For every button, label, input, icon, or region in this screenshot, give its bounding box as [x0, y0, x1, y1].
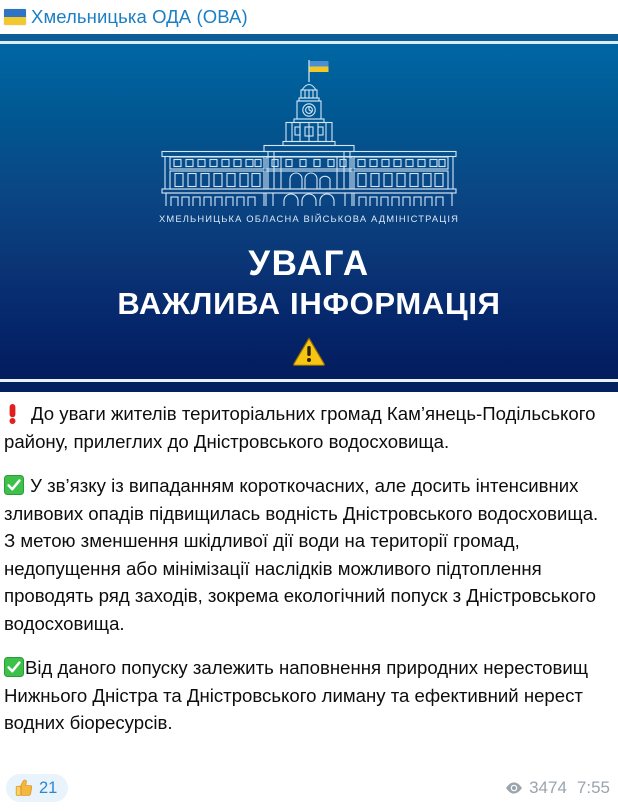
telegram-post: Хмельницька ОДА (ОВА): [0, 0, 618, 811]
message-paragraph-1: До уваги жителів територіальних громад К…: [4, 400, 612, 455]
views-count: 3474: [529, 778, 567, 798]
message-paragraph-1-text: До уваги жителів територіальних громад К…: [4, 403, 595, 452]
message-paragraph-3-text: Від даного попуску залежить наповнення п…: [4, 657, 588, 733]
warning-triangle-icon: [292, 336, 326, 367]
eye-icon: [505, 781, 523, 795]
banner-headline-secondary: ВАЖЛИВА ІНФОРМАЦІЯ: [117, 288, 500, 319]
message-paragraph-2: У зв’язку із випаданням короткочасних, а…: [4, 472, 612, 637]
banner-top-bar: [0, 34, 618, 41]
banner-content: ХМЕЛЬНИЦЬКА ОБЛАСНА ВІЙСЬКОВА АДМІНІСТРА…: [0, 44, 618, 382]
banner-bottom-bar: [0, 382, 618, 392]
reaction-thumbs-up-button[interactable]: 21: [6, 774, 68, 802]
white-check-mark-icon: [4, 475, 24, 495]
post-banner-image[interactable]: ХМЕЛЬНИЦЬКА ОБЛАСНА ВІЙСЬКОВА АДМІНІСТРА…: [0, 34, 618, 392]
reaction-count: 21: [39, 779, 57, 798]
post-footer: 21 3474 7:55: [0, 765, 618, 811]
post-time: 7:55: [577, 778, 610, 798]
thumbs-up-icon: [14, 778, 34, 798]
message-text: До уваги жителів територіальних громад К…: [0, 392, 618, 737]
post-meta: 3474 7:55: [505, 778, 610, 798]
organization-title: ХМЕЛЬНИЦЬКА ОБЛАСНА ВІЙСЬКОВА АДМІНІСТРА…: [159, 213, 459, 224]
message-paragraph-2-text: У зв’язку із випаданням короткочасних, а…: [4, 475, 598, 634]
channel-name[interactable]: Хмельницька ОДА (ОВА): [31, 6, 248, 28]
message-paragraph-3: Від даного попуску залежить наповнення п…: [4, 654, 612, 737]
banner-headline-primary: УВАГА: [248, 246, 370, 281]
ukraine-flag-icon: [4, 9, 26, 25]
channel-header[interactable]: Хмельницька ОДА (ОВА): [0, 0, 618, 34]
government-building-icon: [144, 58, 474, 206]
white-check-mark-icon: [4, 657, 24, 677]
red-exclamation-mark-icon: [4, 403, 21, 424]
